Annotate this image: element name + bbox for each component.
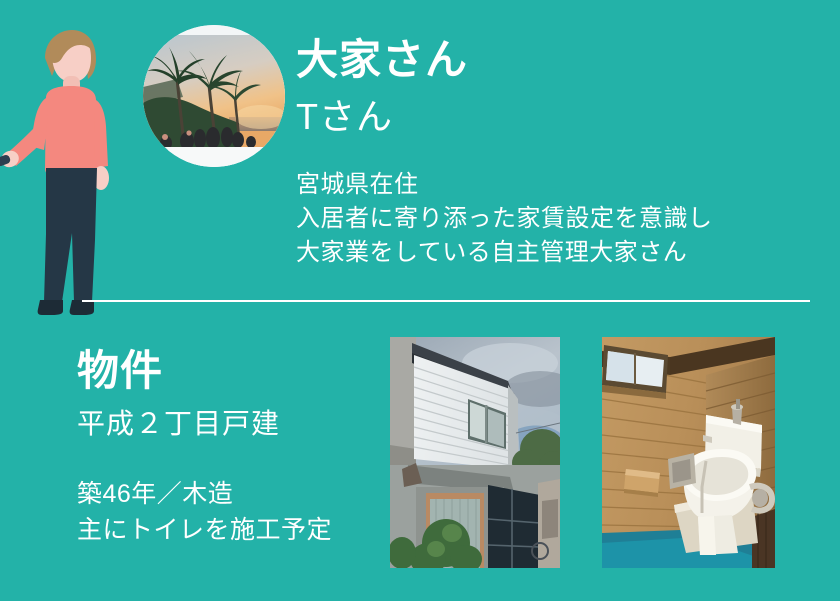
standing-person-illustration [0, 18, 125, 318]
owner-section-title: 大家さん [296, 36, 468, 84]
owner-description: 宮城県在住 入居者に寄り添った家賃設定を意識し 大家業をしている自主管理大家さん [296, 168, 713, 270]
property-subtitle: 平成２丁目戸建 [77, 407, 280, 441]
owner-description-line: 入居者に寄り添った家賃設定を意識し [296, 202, 713, 236]
owner-description-line: 宮城県在住 [296, 168, 713, 202]
slide-root: 大家さん Tさん 宮城県在住 入居者に寄り添った家賃設定を意識し 大家業をしてい… [0, 0, 840, 601]
property-note-line: 築46年／木造 [77, 476, 332, 512]
property-note-line: 主にトイレを施工予定 [77, 512, 332, 548]
owner-description-line: 大家業をしている自主管理大家さん [296, 236, 713, 270]
toilet-interior-photo [602, 337, 775, 568]
house-exterior-photo [390, 337, 560, 568]
property-notes: 築46年／木造 主にトイレを施工予定 [77, 476, 332, 549]
palm-tree-sunset-photo [143, 25, 285, 167]
owner-name: Tさん [296, 96, 393, 137]
property-section-title: 物件 [77, 347, 163, 395]
section-divider [82, 300, 810, 302]
avatar [143, 25, 285, 167]
